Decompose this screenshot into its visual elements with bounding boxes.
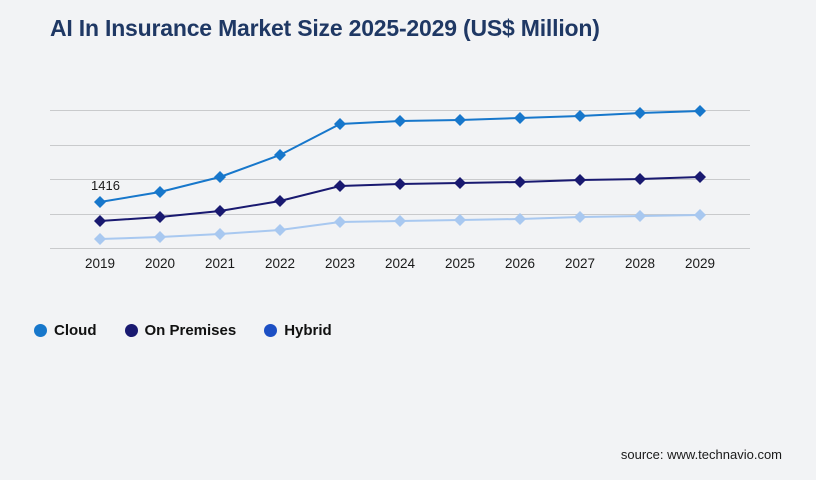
x-axis-label-2022: 2022 [265,256,295,271]
data-point-marker[interactable] [94,215,106,227]
data-point-marker[interactable] [574,110,586,122]
plot-area: 2019202020212022202320242025202620272028… [0,0,816,300]
data-point-marker[interactable] [274,195,286,207]
legend-label: Hybrid [284,322,332,339]
data-point-marker[interactable] [214,228,226,240]
data-point-marker[interactable] [214,205,226,217]
data-point-marker[interactable] [94,233,106,245]
data-point-marker[interactable] [334,180,346,192]
data-point-marker[interactable] [394,215,406,227]
x-axis-label-2026: 2026 [505,256,535,271]
data-point-marker[interactable] [394,115,406,127]
x-axis-label-2020: 2020 [145,256,175,271]
data-point-marker[interactable] [154,211,166,223]
legend-label: Cloud [54,322,97,339]
x-axis-label-2023: 2023 [325,256,355,271]
data-point-marker[interactable] [154,231,166,243]
line-chart-svg [0,0,816,300]
data-point-marker[interactable] [274,149,286,161]
data-point-marker[interactable] [334,216,346,228]
legend-marker-icon [125,324,138,337]
x-axis-label-2028: 2028 [625,256,655,271]
legend-marker-icon [34,324,47,337]
legend-marker-icon [264,324,277,337]
x-axis-label-2024: 2024 [385,256,415,271]
data-label-first-cloud-value: 1416 [91,178,120,193]
data-point-marker[interactable] [634,107,646,119]
x-axis-label-2025: 2025 [445,256,475,271]
chart-page: AI In Insurance Market Size 2025-2029 (U… [0,0,816,480]
data-point-marker[interactable] [454,114,466,126]
chart-legend: CloudOn PremisesHybrid [34,322,332,339]
series-cloud [94,105,706,208]
data-point-marker[interactable] [454,177,466,189]
data-point-marker[interactable] [94,196,106,208]
data-point-marker[interactable] [274,224,286,236]
x-axis-label-2021: 2021 [205,256,235,271]
source-attribution: source: www.technavio.com [621,447,782,462]
data-point-marker[interactable] [514,112,526,124]
data-point-marker[interactable] [634,210,646,222]
legend-item-on-premises[interactable]: On Premises [125,322,237,339]
data-point-marker[interactable] [214,171,226,183]
data-point-marker[interactable] [574,211,586,223]
legend-label: On Premises [145,322,237,339]
data-point-marker[interactable] [574,174,586,186]
data-point-marker[interactable] [334,118,346,130]
legend-item-hybrid[interactable]: Hybrid [264,322,332,339]
data-point-marker[interactable] [514,176,526,188]
x-axis-label-2029: 2029 [685,256,715,271]
data-point-marker[interactable] [694,171,706,183]
x-axis-label-2019: 2019 [85,256,115,271]
data-point-marker[interactable] [694,209,706,221]
x-axis-label-2027: 2027 [565,256,595,271]
data-point-marker[interactable] [154,186,166,198]
legend-item-cloud[interactable]: Cloud [34,322,97,339]
data-point-marker[interactable] [634,173,646,185]
data-point-marker[interactable] [454,214,466,226]
data-point-marker[interactable] [694,105,706,117]
